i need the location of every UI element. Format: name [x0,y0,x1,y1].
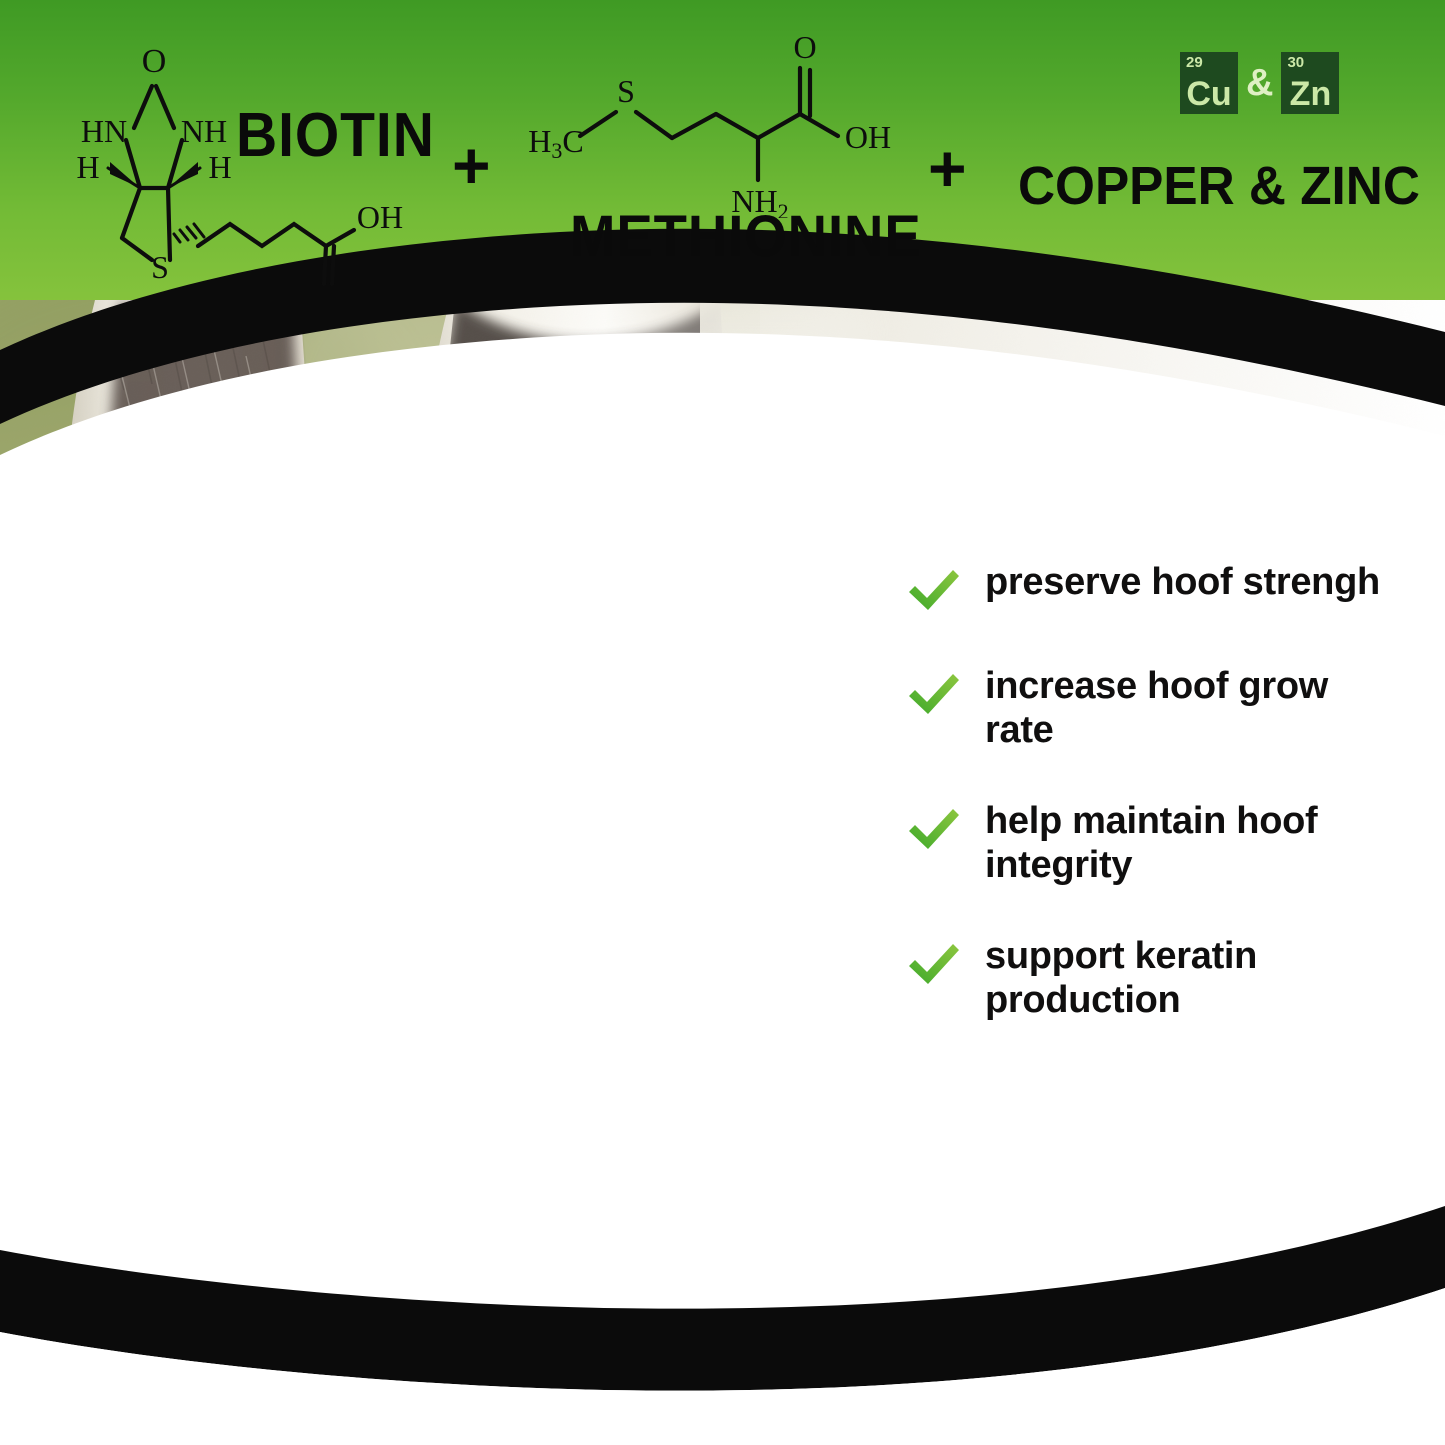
element-tile-zn: 30 Zn [1281,52,1339,114]
element-number-cu: 29 [1186,55,1203,70]
biotin-label-nh: NH [181,113,227,149]
biotin-label-hn: HN [81,113,127,149]
element-tiles: 29 Cu & 30 Zn [1180,52,1339,114]
check-icon [905,805,963,857]
header-content: O HN NH H H S OH O BIOTIN + [0,0,1445,300]
plus-sign-1: + [452,132,491,198]
biotin-label-h-left: H [76,149,99,185]
biotin-label-h-right: H [208,149,231,185]
list-item: preserve hoof strengh [905,560,1425,618]
benefit-label: help maintain hoof integrity [985,799,1395,888]
footer-green-band [0,1275,1445,1445]
benefit-label: preserve hoof strengh [985,560,1380,604]
biotin-title: BIOTIN [236,100,435,171]
check-icon [905,940,963,992]
methionine-label-s: S [617,73,635,109]
list-item: support keratin production [905,934,1425,1023]
biotin-label-s: S [151,249,169,285]
biotin-label-o-tail: O [318,287,341,288]
element-symbol-zn: Zn [1281,77,1339,111]
biotin-label-oh: OH [357,199,403,235]
methionine-label-o: O [793,29,816,65]
check-icon [905,566,963,618]
list-item: increase hoof grow rate [905,664,1425,753]
ampersand-symbol: & [1244,64,1275,102]
benefit-label: support keratin production [985,934,1395,1023]
methionine-label-oh: OH [845,119,891,155]
element-tile-cu: 29 Cu [1180,52,1238,114]
copper-zinc-title: COPPER & ZINC [1018,155,1420,217]
plus-sign-2: + [928,135,967,201]
biotin-label-o-top: O [142,43,167,80]
methionine-label-h3c: H3C [528,123,583,163]
list-item: help maintain hoof integrity [905,799,1425,888]
product-infographic: O HN NH H H S OH O BIOTIN + [0,0,1445,1445]
benefits-list: preserve hoof strengh increase hoof grow… [905,560,1425,1023]
element-number-zn: 30 [1287,55,1304,70]
methionine-title: METHIONINE [570,203,922,270]
check-icon [905,670,963,722]
element-symbol-cu: Cu [1180,77,1238,111]
methionine-molecule-icon: H3C S O OH NH2 [520,28,940,218]
benefit-label: increase hoof grow rate [985,664,1395,753]
